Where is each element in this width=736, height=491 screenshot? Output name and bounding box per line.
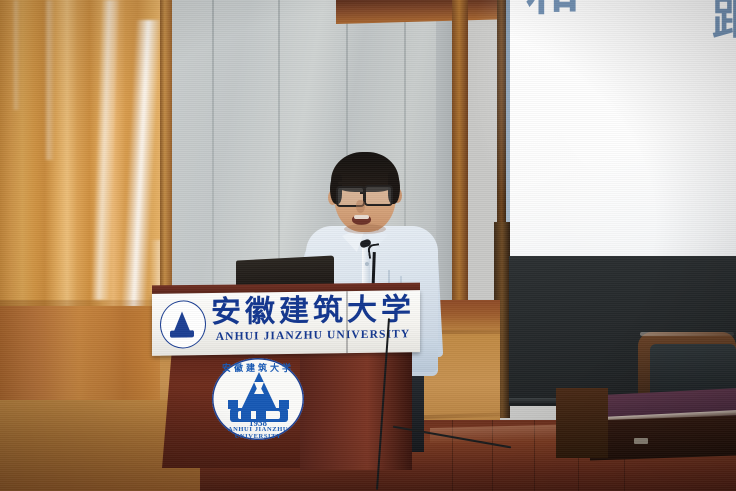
chair-top-highlight — [640, 332, 734, 336]
ceiling-wood-trim — [336, 0, 516, 24]
banner-chinese-name: 安徽建筑大学 — [210, 293, 416, 330]
presenter-teeth — [354, 215, 369, 219]
slide-character-fragment: 和 — [526, 0, 580, 18]
wall-reflection — [12, 0, 20, 110]
podium-emblem: 安徽建筑大学 1958 ANHUI JIANZHU UNIVERSITY — [212, 358, 304, 440]
eyeglasses-bridge — [360, 192, 366, 194]
banner-panel-seam — [346, 291, 348, 353]
emblem-chinese-name: 安徽建筑大学 — [212, 361, 304, 374]
wood-column-trim — [452, 0, 468, 300]
wall-reflection — [44, 0, 54, 160]
presenter-eyebrow — [366, 180, 386, 184]
table-hardware — [634, 438, 648, 444]
emblem-english-name: ANHUI JIANZHU UNIVERSITY — [212, 426, 304, 440]
projection-screen — [506, 0, 736, 262]
banner-seal: 1958 — [160, 300, 204, 347]
podium-body-side — [300, 348, 412, 470]
wall-reflection — [91, 0, 119, 300]
table-apron — [590, 415, 736, 460]
slide-character-fragment: 距 — [712, 0, 736, 42]
table-side-panel — [556, 388, 608, 458]
banner-english-name: ANHUI JIANZHU UNIVERSITY — [210, 328, 416, 343]
wood-column-trim-dark — [497, 0, 506, 240]
podium-banner: 1958 安徽建筑大学 ANHUI JIANZHU UNIVERSITY — [152, 290, 420, 356]
shirt-button — [365, 262, 369, 266]
seal-founded-year: 1958 — [160, 333, 204, 340]
lecture-hall-photo: 和 距 — [0, 0, 736, 491]
presenter-chin-shadow — [344, 224, 386, 234]
wall-seam — [212, 0, 214, 330]
eyeglasses-lens-right — [364, 185, 393, 206]
presenter-nose — [356, 200, 365, 213]
